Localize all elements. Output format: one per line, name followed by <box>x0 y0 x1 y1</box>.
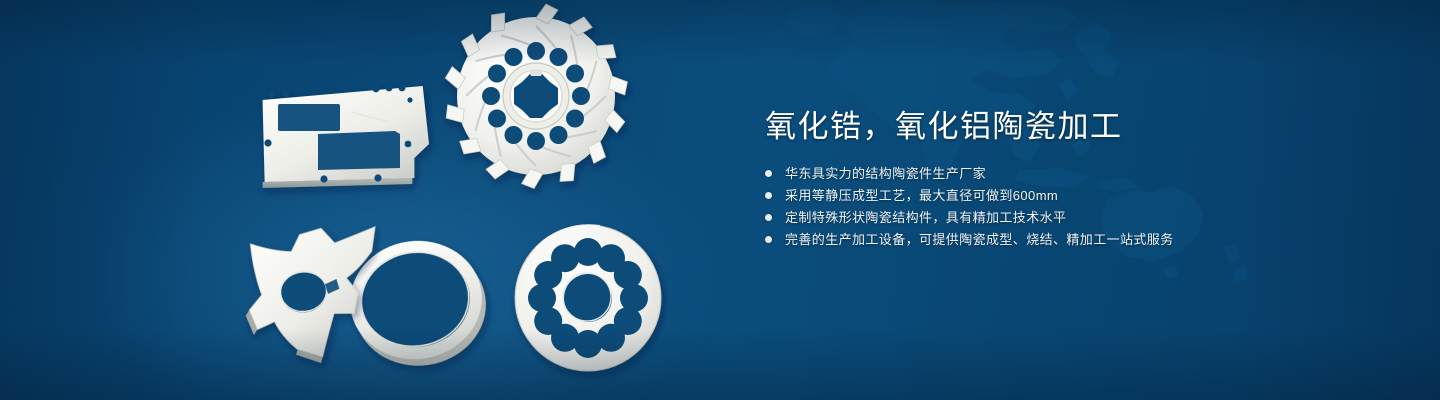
bullet-dot-icon <box>765 214 772 221</box>
banner-copy: 氧化锆，氧化铝陶瓷加工 华东具实力的结构陶瓷件生产厂家 采用等静压成型工艺，最大… <box>765 106 1365 254</box>
list-item: 华东具实力的结构陶瓷件生产厂家 <box>765 166 1365 181</box>
bullet-dot-icon <box>765 192 772 199</box>
banner-headline: 氧化锆，氧化铝陶瓷加工 <box>765 106 1365 148</box>
hero-banner: 氧化锆，氧化铝陶瓷加工 华东具实力的结构陶瓷件生产厂家 采用等静压成型工艺，最大… <box>0 0 1440 400</box>
list-item: 定制特殊形状陶瓷结构件，具有精加工技术水平 <box>765 210 1365 225</box>
feature-text: 完善的生产加工设备，可提供陶瓷成型、烧结、精加工一站式服务 <box>785 232 1174 247</box>
list-item: 采用等静压成型工艺，最大直径可做到600mm <box>765 188 1365 203</box>
feature-list: 华东具实力的结构陶瓷件生产厂家 采用等静压成型工艺，最大直径可做到600mm 定… <box>765 166 1365 247</box>
feature-text: 采用等静压成型工艺，最大直径可做到600mm <box>785 188 1058 203</box>
bullet-dot-icon <box>765 236 772 243</box>
bullet-dot-icon <box>765 170 772 177</box>
feature-text: 华东具实力的结构陶瓷件生产厂家 <box>785 166 986 181</box>
list-item: 完善的生产加工设备，可提供陶瓷成型、烧结、精加工一站式服务 <box>765 232 1365 247</box>
feature-text: 定制特殊形状陶瓷结构件，具有精加工技术水平 <box>785 210 1066 225</box>
